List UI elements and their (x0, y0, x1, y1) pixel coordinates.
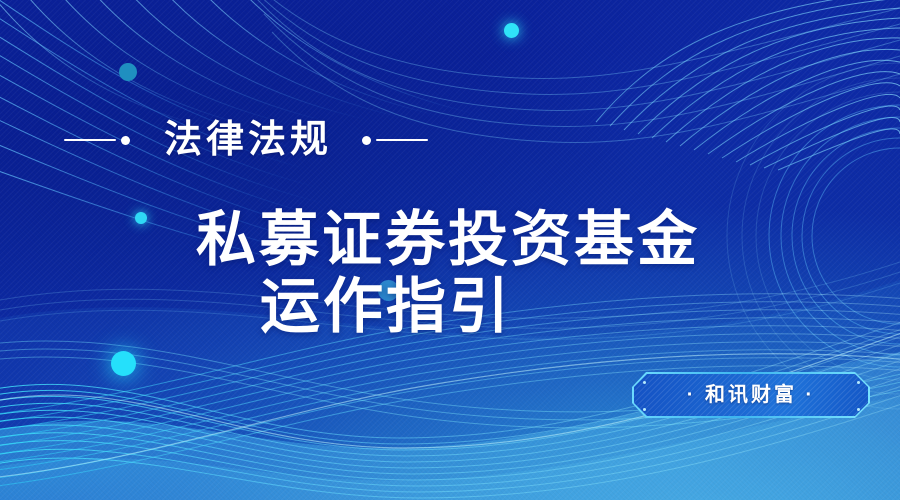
badge-body: · 和讯财富 · (634, 374, 868, 416)
badge-label: · 和讯财富 · (687, 385, 815, 405)
badge-pip-bottom-left (643, 408, 646, 411)
badge-pip-top-right (857, 381, 860, 384)
badge-pip-top-left (643, 381, 646, 384)
banner-root: 法律法规 私募证券投资基金 运作指引 · 和讯财富 · (0, 0, 900, 500)
brand-badge: · 和讯财富 · (0, 0, 900, 500)
badge-pip-bottom-right (857, 408, 860, 411)
